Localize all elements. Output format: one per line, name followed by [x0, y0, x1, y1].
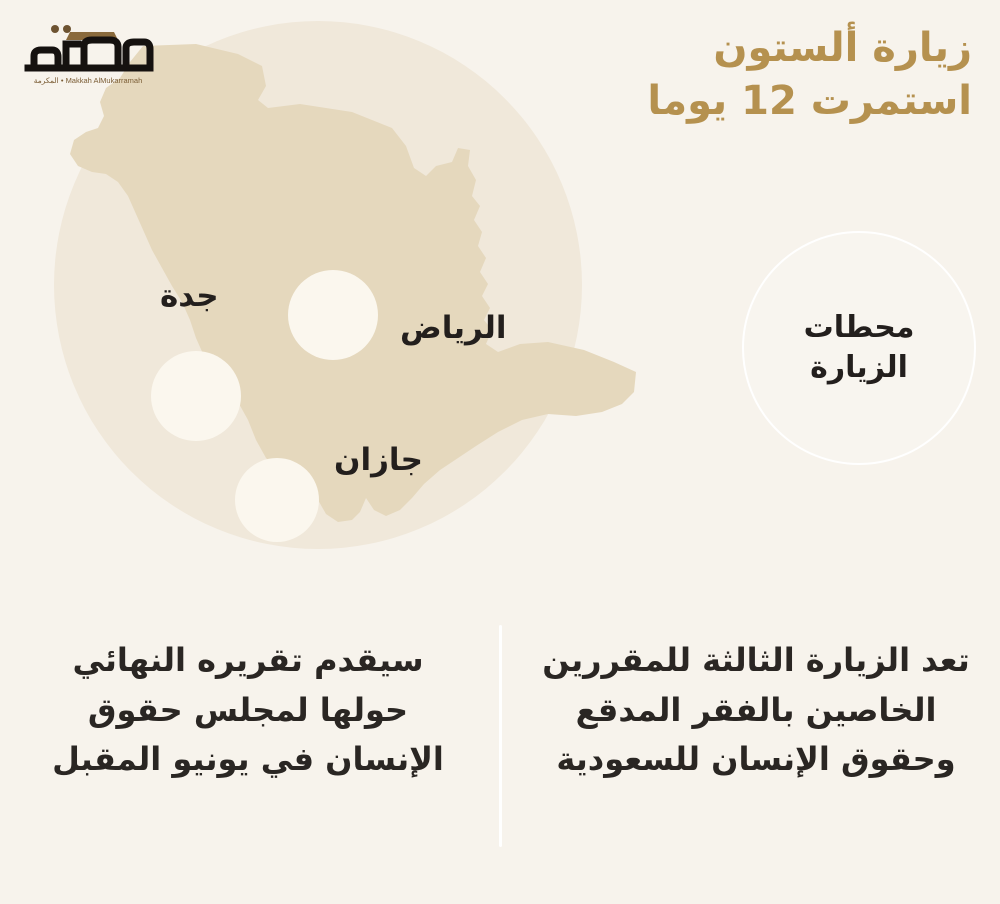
facts-divider — [499, 625, 502, 847]
fact-left-text: سيقدم تقريره النهائي حولها لمجلس حقوق ال… — [28, 636, 468, 785]
visit-stations-line-1: محطات — [804, 308, 915, 349]
headline-line-1: زيارة ألستون — [532, 22, 972, 75]
logo-svg: Makkah AlMukarramah • المكرمة — [18, 16, 158, 90]
headline-line-2: استمرت 12 يوما — [532, 75, 972, 128]
facts-section: تعد الزيارة الثالثة للمقررين الخاصين بال… — [0, 600, 1000, 904]
logo-dot-icon — [51, 25, 59, 33]
headline: زيارة ألستون استمرت 12 يوما — [532, 22, 972, 128]
city-label-jeddah: جدة — [160, 278, 219, 314]
visit-stations-badge: محطات الزيارة — [742, 231, 976, 465]
logo-subtitle: Makkah AlMukarramah • المكرمة — [34, 76, 143, 85]
city-dot-jeddah — [151, 351, 241, 441]
logo-dot-icon — [63, 25, 71, 33]
visit-stations-line-2: الزيارة — [810, 348, 908, 389]
city-label-jazan: جازان — [334, 442, 423, 478]
city-dot-jazan — [235, 458, 319, 542]
infographic-canvas: Makkah AlMukarramah • المكرمة زيارة ألست… — [0, 0, 1000, 904]
fact-right-text: تعد الزيارة الثالثة للمقررين الخاصين بال… — [536, 636, 976, 785]
makkah-newspaper-logo: Makkah AlMukarramah • المكرمة — [18, 16, 158, 90]
city-label-riyadh: الرياض — [400, 310, 507, 346]
city-dot-riyadh — [288, 270, 378, 360]
logo-wordmark-icon — [28, 40, 150, 68]
